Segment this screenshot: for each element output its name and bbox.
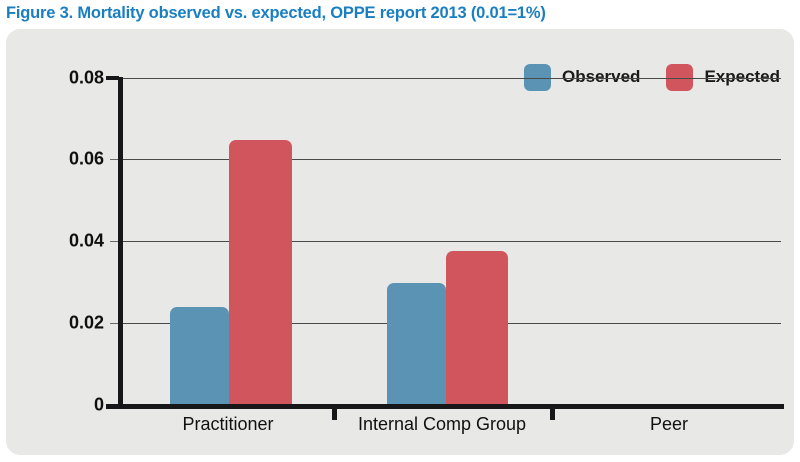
y-axis-label-0.02: 0.02 [12,313,104,334]
figure-title: Figure 3. Mortality observed vs. expecte… [6,4,796,23]
legend-entry-expected: Expected [666,64,780,91]
gridline-0.08 [118,78,781,79]
y-axis-label-0.06: 0.06 [12,149,104,170]
figure-container: Figure 3. Mortality observed vs. expecte… [0,0,800,462]
bar-expected-internal-comp-group [446,251,508,404]
y-axis-line [118,77,123,406]
y-axis-label-0.08: 0.08 [12,68,104,89]
gridline-0.04 [118,241,781,242]
x-axis-label-practitioner: Practitioner [182,414,273,435]
y-axis-label-0: 0 [12,395,104,416]
legend-label-observed: Observed [562,67,640,87]
bar-observed-practitioner [170,307,229,404]
gridline-0.06 [118,159,781,160]
y-axis-label-0.04: 0.04 [12,231,104,252]
legend-swatch-expected [666,64,693,91]
legend-swatch-observed [524,64,551,91]
legend-label-expected: Expected [704,67,780,87]
plot-area: Observed Expected [6,29,794,455]
x-tick-separator-2 [550,408,555,420]
x-axis-label-internal-comp-group: Internal Comp Group [358,414,526,435]
chart-legend: Observed Expected [524,62,780,92]
x-axis-line [106,404,784,409]
bar-observed-internal-comp-group [387,283,446,404]
legend-entry-observed: Observed [524,64,640,91]
x-tick-separator-1 [332,408,337,420]
x-axis-label-peer: Peer [650,414,688,435]
bar-expected-practitioner [229,140,292,404]
chart-panel: Observed Expected [6,29,794,455]
